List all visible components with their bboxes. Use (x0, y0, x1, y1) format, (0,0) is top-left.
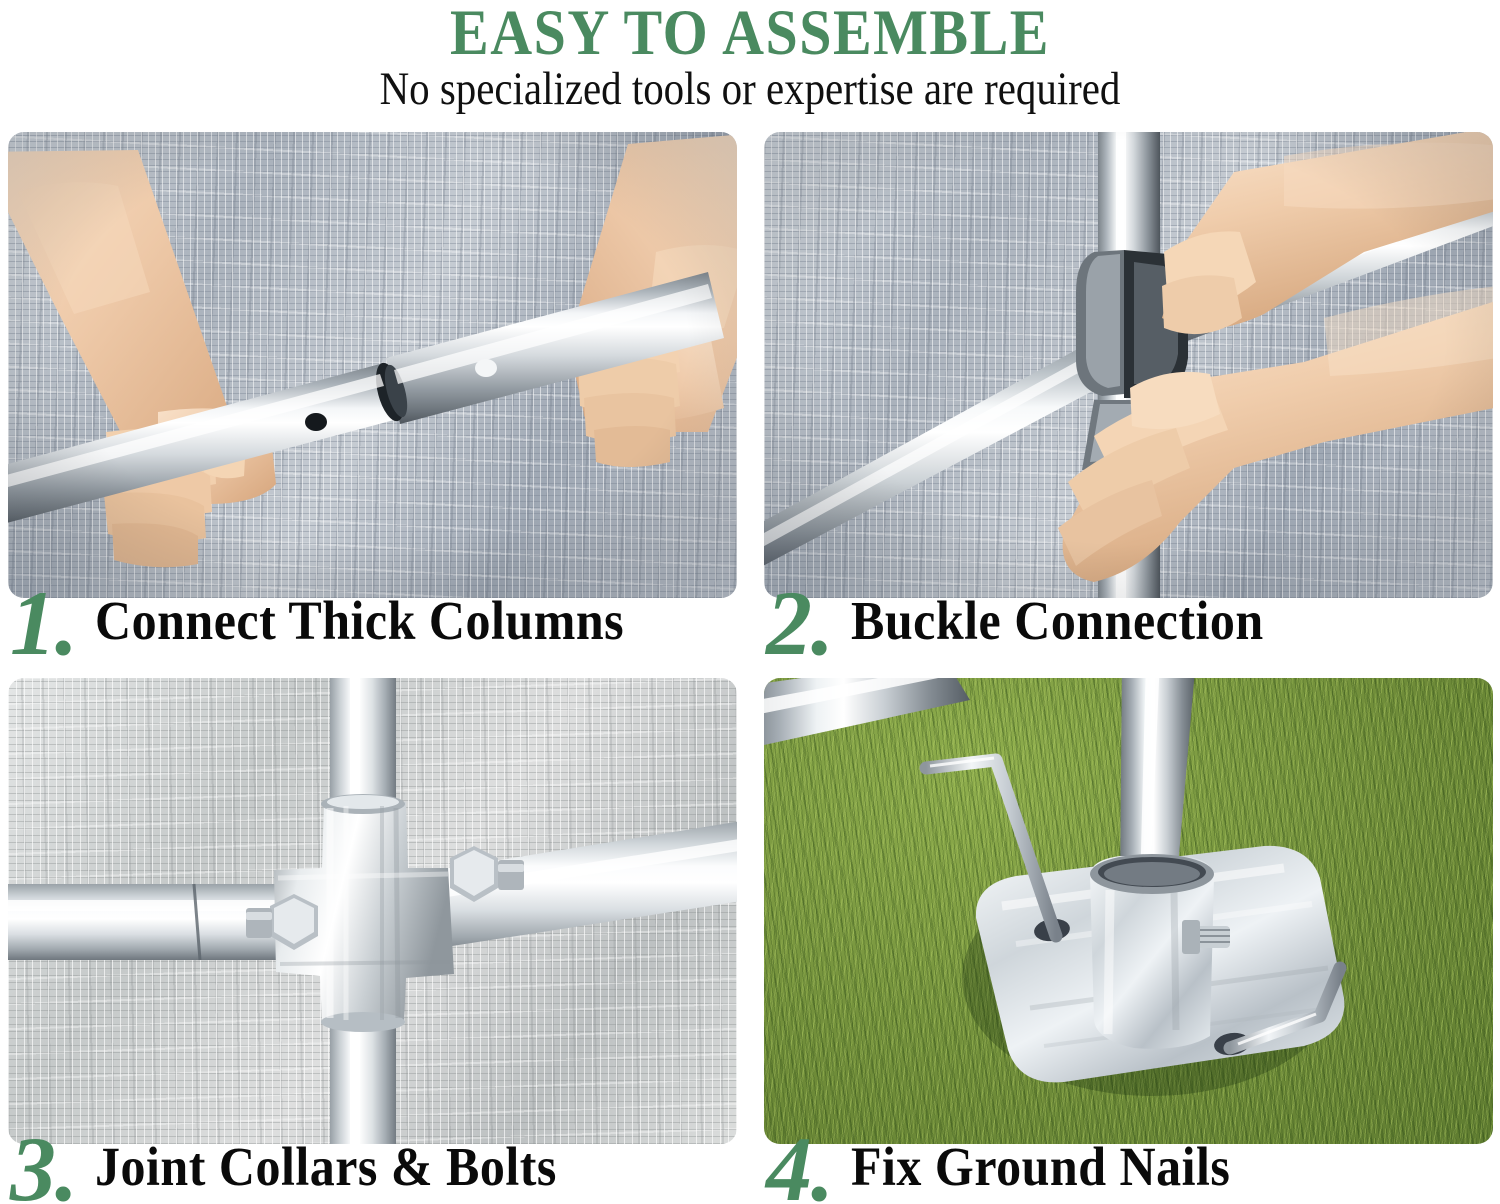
diagonal-rail (764, 678, 970, 748)
infographic-page: EASY TO ASSEMBLE No specialized tools or… (0, 0, 1500, 1204)
header: EASY TO ASSEMBLE No specialized tools or… (0, 0, 1500, 126)
step-panel-1 (8, 132, 737, 598)
step-title-1: Connect Thick Columns (95, 589, 624, 651)
joint-collar (274, 794, 454, 1032)
step-caption-4: 4. Fix Ground Nails (766, 1118, 1495, 1200)
vertical-pole-upper (330, 678, 396, 814)
step-caption-3: 3. Joint Collars & Bolts (10, 1118, 739, 1200)
step-1-photo (8, 132, 737, 598)
page-title: EASY TO ASSEMBLE (0, 0, 1500, 67)
step-panel-3 (8, 678, 737, 1144)
step-title-3: Joint Collars & Bolts (95, 1135, 557, 1197)
step-panel-2 (764, 132, 1493, 598)
step-number-1: 1. (10, 586, 77, 660)
step-number-2: 2. (766, 586, 833, 660)
step-3-photo (8, 678, 737, 1144)
step-title-4: Fix Ground Nails (851, 1135, 1230, 1197)
step-panel-4 (764, 678, 1493, 1144)
step-caption-2: 2. Buckle Connection (766, 572, 1495, 654)
page-subtitle: No specialized tools or expertise are re… (53, 63, 1448, 116)
horizontal-rail-right (388, 820, 737, 956)
step-4-photo (764, 678, 1493, 1144)
step-number-3: 3. (10, 1132, 77, 1204)
step-number-4: 4. (766, 1132, 833, 1204)
step-2-photo (764, 132, 1493, 598)
horizontal-rail-left (8, 884, 338, 960)
hex-bolt-left (246, 894, 318, 950)
step-title-2: Buckle Connection (851, 589, 1264, 651)
step-caption-1: 1. Connect Thick Columns (10, 572, 739, 654)
hex-bolt-right (450, 846, 524, 902)
